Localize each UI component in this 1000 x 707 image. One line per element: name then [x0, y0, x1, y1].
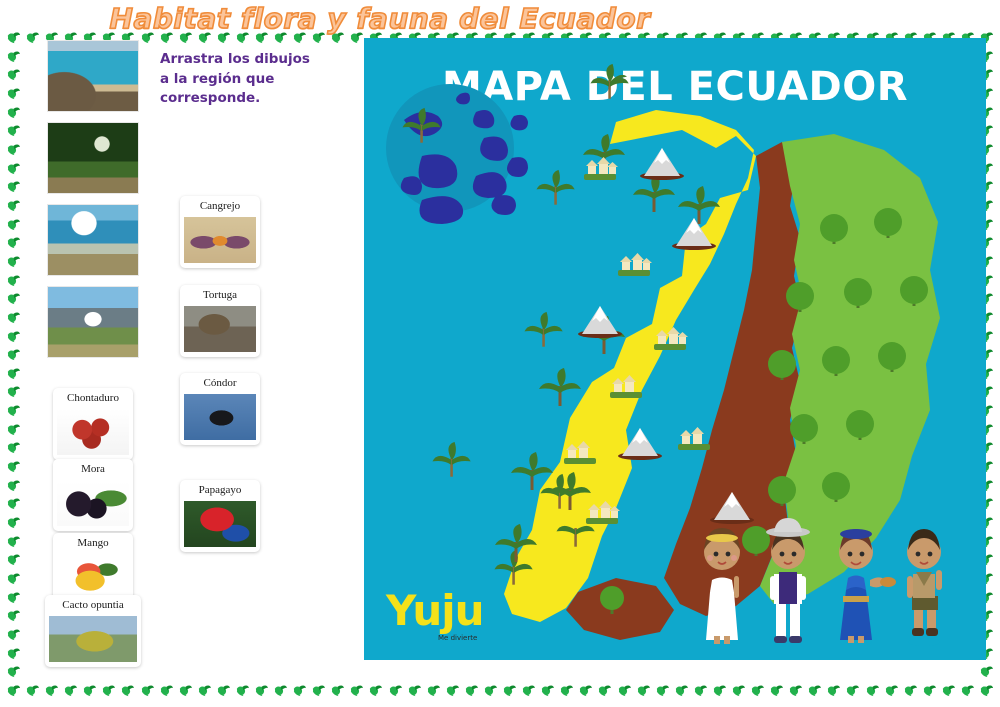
leaf-icon	[349, 683, 364, 698]
leaf-icon	[6, 440, 21, 455]
leaf-icon	[960, 683, 975, 698]
border-leaf	[865, 683, 880, 698]
leaf-icon	[617, 683, 632, 698]
leaf-icon	[979, 683, 994, 698]
leaf-icon	[636, 683, 651, 698]
border-leaf	[960, 683, 975, 698]
tortoise-image	[184, 306, 256, 352]
leaf-icon	[6, 627, 21, 642]
leaf-icon	[559, 683, 574, 698]
chontaduro-image	[57, 409, 129, 455]
leaf-icon	[884, 683, 899, 698]
yuju-logo[interactable]: Yuju Me divierte	[386, 590, 516, 642]
leaf-icon	[235, 683, 250, 698]
leaf-icon	[807, 683, 822, 698]
leaf-icon	[6, 403, 21, 418]
leaf-icon	[63, 683, 78, 698]
leaf-icon	[6, 683, 21, 698]
border-leaf	[6, 347, 21, 362]
border-leaf	[578, 683, 593, 698]
border-leaf	[693, 683, 708, 698]
drag-card-label: Cóndor	[184, 377, 256, 391]
leaf-icon	[25, 683, 40, 698]
leaf-icon	[368, 683, 383, 698]
border-leaf	[349, 683, 364, 698]
border-leaf	[25, 683, 40, 698]
border-leaf	[6, 366, 21, 381]
leaf-icon	[6, 123, 21, 138]
border-leaf	[6, 646, 21, 661]
leaf-icon	[464, 683, 479, 698]
leaf-icon	[845, 683, 860, 698]
drag-card-label: Mora	[57, 463, 129, 477]
border-leaf	[6, 123, 21, 138]
leaf-icon	[254, 683, 269, 698]
border-leaf	[6, 384, 21, 399]
leaf-icon	[388, 683, 403, 698]
border-leaf	[674, 683, 689, 698]
leaf-icon	[44, 683, 59, 698]
leaf-icon	[6, 142, 21, 157]
border-leaf	[44, 683, 59, 698]
border-leaf	[6, 440, 21, 455]
photo-beach	[47, 204, 139, 276]
leaf-icon	[502, 683, 517, 698]
border-leaf	[120, 683, 135, 698]
border-leaf	[6, 571, 21, 586]
kid-amazonia	[907, 529, 942, 646]
border-leaf	[6, 67, 21, 82]
border-leaf	[979, 664, 994, 679]
condor-image	[184, 394, 256, 440]
border-leaf	[788, 683, 803, 698]
border-leaf	[6, 291, 21, 306]
border-leaf	[483, 683, 498, 698]
leaf-icon	[6, 347, 21, 362]
kid-costa	[704, 528, 740, 646]
border-leaf	[6, 403, 21, 418]
leaf-icon	[311, 683, 326, 698]
blackberry-image	[57, 480, 129, 526]
border-leaf	[6, 235, 21, 250]
leaf-icon	[120, 683, 135, 698]
border-leaf	[6, 273, 21, 288]
leaf-icon	[6, 496, 21, 511]
leaf-icon	[6, 422, 21, 437]
drag-card-mango[interactable]: Mango	[53, 533, 133, 605]
leaf-icon	[82, 683, 97, 698]
leaf-icon	[941, 683, 956, 698]
drag-card-label: Chontaduro	[57, 392, 129, 406]
worksheet-page: Habitat flora y fauna del Ecuador Arrast…	[0, 0, 1000, 707]
leaf-icon	[6, 683, 21, 698]
kid-andina	[839, 529, 896, 646]
drag-card-chontaduro[interactable]: Chontaduro	[53, 388, 133, 460]
leaf-icon	[979, 683, 994, 698]
photo-volcano	[47, 286, 139, 358]
crab-image	[184, 217, 256, 263]
drag-card-tortuga[interactable]: Tortuga	[180, 285, 260, 357]
leaf-icon	[922, 683, 937, 698]
leaf-icon	[273, 683, 288, 698]
instruction-line-1: Arrastra los dibujos	[160, 50, 335, 70]
border-leaf	[521, 683, 536, 698]
leaf-icon	[750, 683, 765, 698]
border-leaf	[636, 683, 651, 698]
drag-card-label: Tortuga	[184, 289, 256, 303]
leaf-icon	[6, 534, 21, 549]
leaf-icon	[407, 683, 422, 698]
border-leaf	[922, 683, 937, 698]
mango-image	[57, 554, 129, 600]
border-col-left	[6, 30, 21, 698]
leaf-icon	[6, 67, 21, 82]
border-leaf	[330, 683, 345, 698]
leaf-icon	[6, 291, 21, 306]
border-leaf	[903, 683, 918, 698]
leaf-icon	[6, 384, 21, 399]
border-leaf	[6, 664, 21, 679]
border-leaf	[426, 683, 441, 698]
border-leaf	[731, 683, 746, 698]
leaf-icon	[6, 105, 21, 120]
leaf-icon	[6, 217, 21, 232]
cactus-image	[49, 616, 137, 662]
leaf-icon	[6, 235, 21, 250]
border-leaf	[769, 683, 784, 698]
leaf-icon	[101, 683, 116, 698]
leaf-icon	[6, 590, 21, 605]
reference-photo-column	[47, 40, 139, 368]
border-leaf	[6, 329, 21, 344]
instruction-line-3: corresponde.	[160, 89, 335, 109]
border-leaf	[311, 683, 326, 698]
leaf-icon	[6, 608, 21, 623]
border-leaf	[807, 683, 822, 698]
leaf-icon	[597, 683, 612, 698]
border-leaf	[540, 683, 555, 698]
border-leaf	[159, 683, 174, 698]
photo-jungle	[47, 122, 139, 194]
border-row-bottom	[6, 683, 994, 698]
leaf-icon	[159, 683, 174, 698]
border-leaf	[6, 590, 21, 605]
border-leaf	[82, 683, 97, 698]
border-leaf	[6, 142, 21, 157]
border-leaf	[6, 86, 21, 101]
leaf-icon	[6, 459, 21, 474]
leaf-icon	[6, 310, 21, 325]
drag-card-label: Cacto opuntia	[49, 599, 137, 613]
leaf-icon	[6, 86, 21, 101]
border-leaf	[826, 683, 841, 698]
leaf-icon	[6, 49, 21, 64]
border-leaf	[6, 534, 21, 549]
border-leaf	[273, 683, 288, 698]
yuju-logo-tagline: Me divierte	[438, 634, 516, 642]
leaf-icon	[731, 683, 746, 698]
map-panel[interactable]: MAPA DEL ECUADOR	[364, 38, 986, 660]
leaf-icon	[865, 683, 880, 698]
leaf-icon	[426, 683, 441, 698]
border-leaf	[388, 683, 403, 698]
leaf-icon	[197, 683, 212, 698]
kid-sierra	[766, 518, 810, 646]
border-leaf	[178, 683, 193, 698]
parrot-image	[184, 501, 256, 547]
leaf-icon	[521, 683, 536, 698]
leaf-icon	[140, 683, 155, 698]
border-leaf	[407, 683, 422, 698]
border-leaf	[617, 683, 632, 698]
border-leaf	[216, 683, 231, 698]
leaf-icon	[674, 683, 689, 698]
leaf-icon	[6, 571, 21, 586]
border-leaf	[979, 683, 994, 698]
border-leaf	[6, 552, 21, 567]
leaf-icon	[6, 515, 21, 530]
drag-card-papagayo[interactable]: Papagayo	[180, 480, 260, 552]
border-leaf	[655, 683, 670, 698]
instruction-text: Arrastra los dibujos a la región que cor…	[160, 50, 335, 109]
border-leaf	[6, 49, 21, 64]
border-leaf	[140, 683, 155, 698]
border-leaf	[6, 683, 21, 698]
border-leaf	[292, 683, 307, 698]
border-leaf	[368, 683, 383, 698]
border-leaf	[6, 478, 21, 493]
leaf-icon	[6, 161, 21, 176]
leaf-icon	[216, 683, 231, 698]
leaf-icon	[6, 664, 21, 679]
border-leaf	[6, 515, 21, 530]
border-leaf	[6, 608, 21, 623]
leaf-icon	[292, 683, 307, 698]
drag-card-cangrejo[interactable]: Cangrejo	[180, 196, 260, 268]
leaf-icon	[826, 683, 841, 698]
border-leaf	[101, 683, 116, 698]
border-leaf	[712, 683, 727, 698]
border-leaf	[559, 683, 574, 698]
border-leaf	[197, 683, 212, 698]
border-leaf	[884, 683, 899, 698]
border-leaf	[235, 683, 250, 698]
leaf-icon	[6, 366, 21, 381]
galapagos-inset-icon	[386, 84, 528, 224]
leaf-icon	[693, 683, 708, 698]
border-leaf	[6, 422, 21, 437]
border-leaf	[6, 198, 21, 213]
border-leaf	[845, 683, 860, 698]
leaf-icon	[540, 683, 555, 698]
border-leaf	[6, 105, 21, 120]
drag-card-label: Cangrejo	[184, 200, 256, 214]
border-leaf	[6, 179, 21, 194]
leaf-icon	[6, 478, 21, 493]
border-leaf	[254, 683, 269, 698]
leaf-icon	[6, 329, 21, 344]
border-leaf	[6, 627, 21, 642]
border-leaf	[63, 683, 78, 698]
leaf-icon	[903, 683, 918, 698]
leaf-icon	[483, 683, 498, 698]
leaf-icon	[769, 683, 784, 698]
border-leaf	[597, 683, 612, 698]
leaf-icon	[6, 552, 21, 567]
drag-card-cacto-opuntia[interactable]: Cacto opuntia	[45, 595, 141, 667]
border-leaf	[6, 217, 21, 232]
photo-coast-cliff	[47, 40, 139, 112]
border-leaf	[941, 683, 956, 698]
leaf-icon	[788, 683, 803, 698]
kids-illustration	[688, 500, 968, 650]
drag-card-condor[interactable]: Cóndor	[180, 373, 260, 445]
leaf-icon	[979, 664, 994, 679]
leaf-icon	[6, 273, 21, 288]
instruction-line-2: a la región que	[160, 70, 335, 90]
leaf-icon	[655, 683, 670, 698]
leaf-icon	[6, 646, 21, 661]
drag-card-mora[interactable]: Mora	[53, 459, 133, 531]
leaf-icon	[178, 683, 193, 698]
leaf-icon	[578, 683, 593, 698]
border-leaf	[6, 459, 21, 474]
border-leaf	[979, 683, 994, 698]
border-leaf	[464, 683, 479, 698]
leaf-icon	[445, 683, 460, 698]
leaf-icon	[6, 179, 21, 194]
leaf-icon	[712, 683, 727, 698]
leaf-icon	[330, 683, 345, 698]
yuju-logo-text: Yuju	[386, 590, 516, 632]
leaf-icon	[6, 198, 21, 213]
border-leaf	[502, 683, 517, 698]
border-leaf	[750, 683, 765, 698]
leaf-icon	[6, 254, 21, 269]
border-leaf	[6, 310, 21, 325]
border-leaf	[6, 254, 21, 269]
border-leaf	[6, 161, 21, 176]
drag-card-label: Papagayo	[184, 484, 256, 498]
border-leaf	[445, 683, 460, 698]
border-leaf	[6, 496, 21, 511]
drag-card-label: Mango	[57, 537, 129, 551]
page-title: Habitat flora y fauna del Ecuador	[0, 2, 760, 35]
border-leaf	[6, 683, 21, 698]
